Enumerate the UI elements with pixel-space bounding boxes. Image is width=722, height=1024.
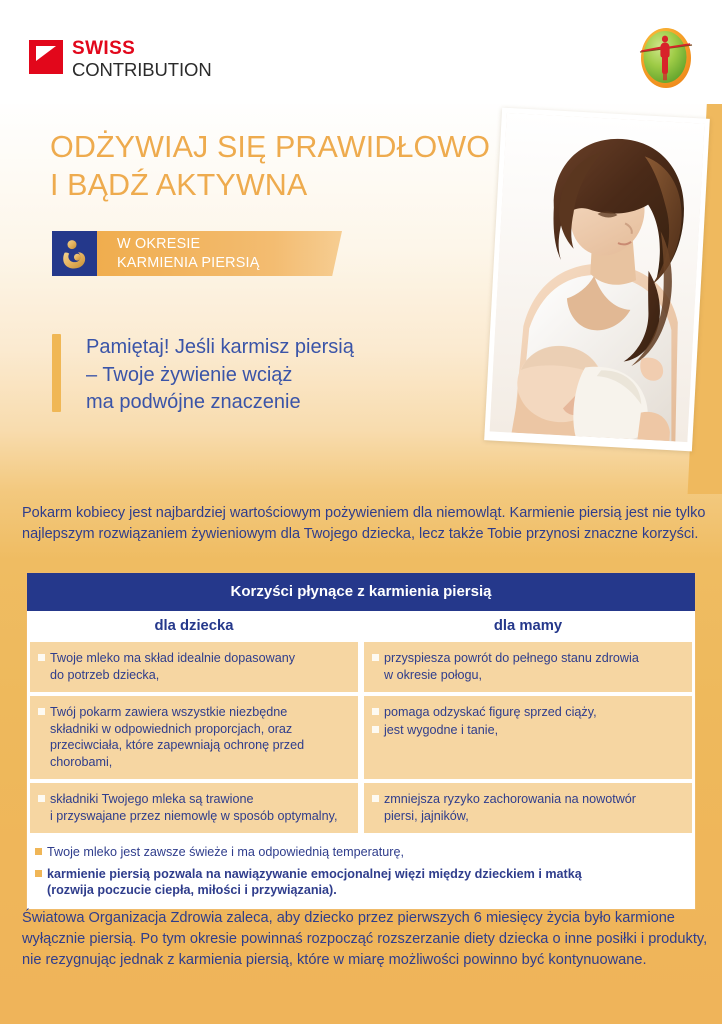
mother-and-child-icon [52,231,97,276]
benefits-table-footer: Twoje mleko jest zawsze świeże i ma odpo… [27,837,695,909]
bullet-text: pomaga odzyskać figurę sprzed ciąży, [384,704,597,721]
bullet-item: karmienie piersią pozwala na nawiązywani… [35,866,687,899]
swiss-flag-square-icon [29,40,63,74]
bullet-item: Twoje mleko ma skład idealnie dopasowany… [38,650,348,683]
bullet-square-icon [372,708,379,715]
table-cell-mother: pomaga odzyskać figurę sprzed ciąży,jest… [364,696,692,779]
swiss-logo-wordmark: SWISS CONTRIBUTION [72,39,212,80]
table-cell-mother: przyspiesza powrót do pełnego stanu zdro… [364,642,692,692]
table-row: Twój pokarm zawiera wszystkie niezbędne … [30,696,692,779]
benefits-table-title: Korzyści płynące z karmienia piersią [27,573,695,611]
bullet-text: Twój pokarm zawiera wszystkie niezbędne … [50,704,304,770]
poster-page: SWISS CONTRIBUTION [0,0,722,1024]
bullet-text: przyspiesza powrót do pełnego stanu zdro… [384,650,639,683]
swiss-contribution-logo: SWISS CONTRIBUTION [29,39,212,80]
swiss-logo-line2: CONTRIBUTION [72,61,212,80]
pull-quote: Pamiętaj! Jeśli karmisz piersią – Twoje … [52,334,354,417]
bullet-text: zmniejsza ryzyko zachorowania na nowotwó… [384,791,636,824]
bullet-square-icon [38,795,45,802]
column-header-mother: dla mamy [361,618,695,634]
benefits-table-body: Twoje mleko ma skład idealnie dopasowany… [27,642,695,833]
green-circle-figure-icon [634,25,698,93]
bullet-item: Twój pokarm zawiera wszystkie niezbędne … [38,704,348,770]
bullet-item: przyspiesza powrót do pełnego stanu zdro… [372,650,682,683]
bullet-item: Twoje mleko jest zawsze świeże i ma odpo… [35,844,687,861]
bullet-text: Twoje mleko ma skład idealnie dopasowany… [50,650,295,683]
table-cell-mother: zmniejsza ryzyko zachorowania na nowotwó… [364,783,692,833]
badge-label: W OKRESIE KARMIENIA PIERSIĄ [97,231,342,276]
section-badge: W OKRESIE KARMIENIA PIERSIĄ [52,231,342,276]
column-header-child: dla dziecka [27,618,361,634]
bullet-item: jest wygodne i tanie, [372,722,682,739]
quote-accent-bar [52,334,61,412]
closing-paragraph: Światowa Organizacja Zdrowia zaleca, aby… [22,908,714,970]
bullet-item: zmniejsza ryzyko zachorowania na nowotwó… [372,791,682,824]
bullet-item: składniki Twojego mleka są trawione i pr… [38,791,348,824]
benefits-table-column-headers: dla dziecka dla mamy [27,611,695,642]
bullet-square-icon [372,654,379,661]
bullet-square-icon [372,795,379,802]
bullet-text: karmienie piersią pozwala na nawiązywani… [47,866,582,899]
benefits-table: Korzyści płynące z karmienia piersią dla… [26,572,696,910]
intro-paragraph: Pokarm kobiecy jest najbardziej wartości… [22,503,710,544]
table-cell-child: Twoje mleko ma skład idealnie dopasowany… [30,642,358,692]
bullet-square-icon [35,870,42,877]
bullet-text: Twoje mleko jest zawsze świeże i ma odpo… [47,844,404,861]
bullet-square-icon [38,654,45,661]
bullet-square-icon [35,848,42,855]
bullet-text: składniki Twojego mleka są trawione i pr… [50,791,337,824]
page-title: ODŻYWIAJ SIĘ PRAWIDŁOWO I BĄDŹ AKTYWNA [50,128,570,204]
bullet-square-icon [38,708,45,715]
swiss-logo-line1: SWISS [72,39,212,58]
bullet-square-icon [372,726,379,733]
bullet-text: jest wygodne i tanie, [384,722,498,739]
bullet-item: pomaga odzyskać figurę sprzed ciąży, [372,704,682,721]
table-cell-child: składniki Twojego mleka są trawione i pr… [30,783,358,833]
quote-text: Pamiętaj! Jeśli karmisz piersią – Twoje … [86,334,354,417]
table-cell-child: Twój pokarm zawiera wszystkie niezbędne … [30,696,358,779]
table-row: składniki Twojego mleka są trawione i pr… [30,783,692,833]
table-row: Twoje mleko ma skład idealnie dopasowany… [30,642,692,692]
